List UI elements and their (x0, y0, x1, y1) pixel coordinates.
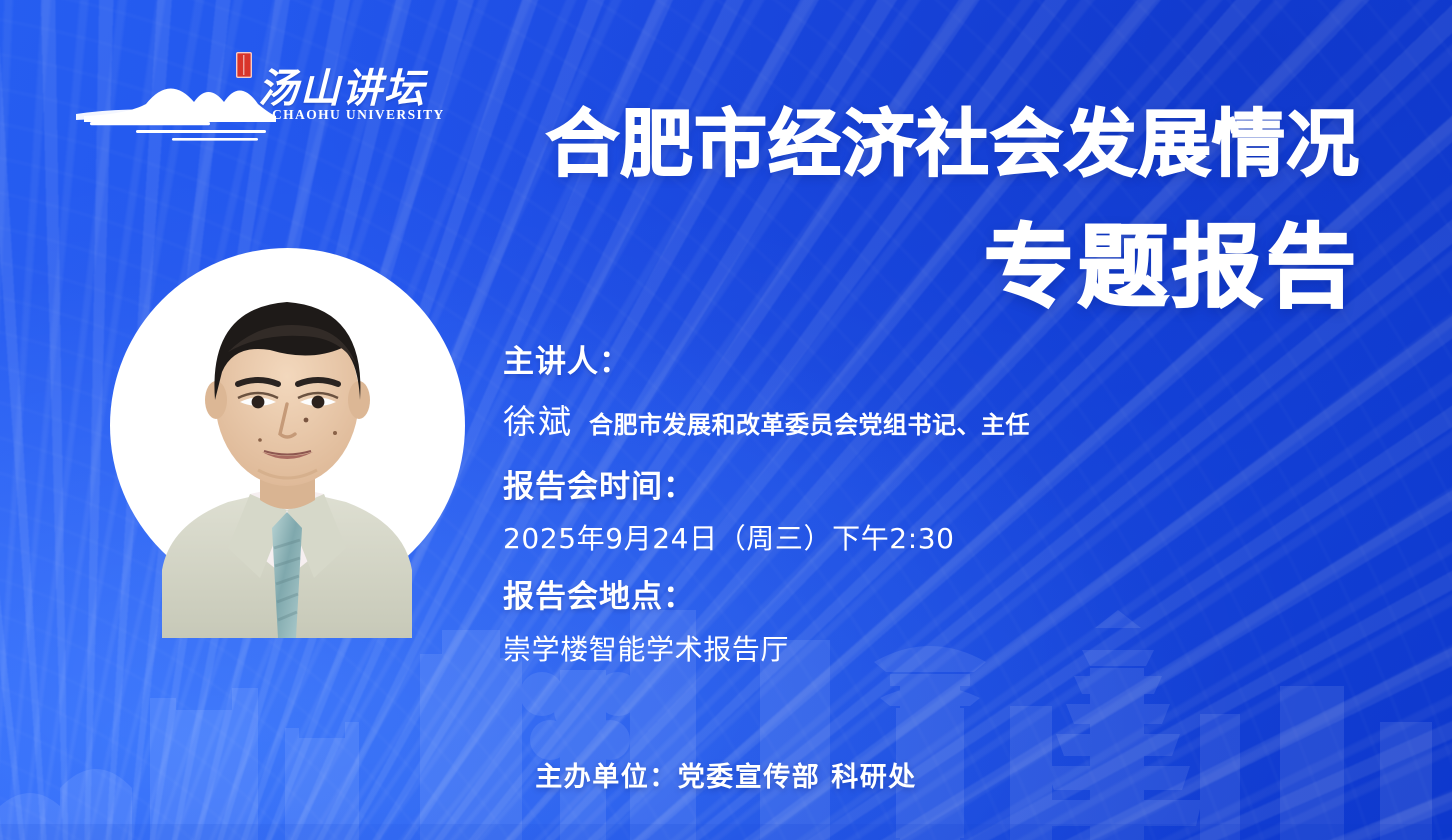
logo-name-cn: 汤山讲坛 (258, 56, 426, 114)
time-value: 2025年9月24日（周三）下午2:30 (503, 517, 1263, 557)
event-info-block: 主讲人： 徐斌 合肥市发展和改革委员会党组书记、主任 报告会时间： 2025年9… (503, 344, 1263, 668)
poster-root: 汤山讲坛 CHAOHU UNIVERSITY 合肥市经济社会发展情况 专题报告 (0, 0, 1452, 840)
speaker-name: 徐斌 (503, 395, 573, 443)
logo-name-en: CHAOHU UNIVERSITY (272, 107, 445, 123)
speaker-row: 徐斌 合肥市发展和改革委员会党组书记、主任 (503, 395, 1263, 443)
place-value: 崇学楼智能学术报告厅 (503, 628, 1263, 668)
spacer-1 (503, 443, 1263, 469)
speaker-portrait (110, 248, 465, 638)
headline-block: 合肥市经济社会发展情况 专题报告 (430, 108, 1360, 313)
organizer-footer: 主办单位：党委宣传部 科研处 (0, 755, 1452, 794)
brand-logo: 汤山讲坛 CHAOHU UNIVERSITY (76, 52, 416, 148)
speaker-label: 主讲人： (503, 344, 1263, 381)
spacer-2 (503, 557, 1263, 579)
speaker-title: 合肥市发展和改革委员会党组书记、主任 (589, 405, 1030, 440)
portrait-illustration (110, 248, 465, 638)
time-label: 报告会时间： (503, 469, 1263, 506)
headline-line-1: 合肥市经济社会发展情况 (430, 108, 1360, 181)
red-seal-icon (236, 52, 252, 78)
place-label: 报告会地点： (503, 579, 1263, 616)
headline-line-2: 专题报告 (430, 223, 1360, 313)
